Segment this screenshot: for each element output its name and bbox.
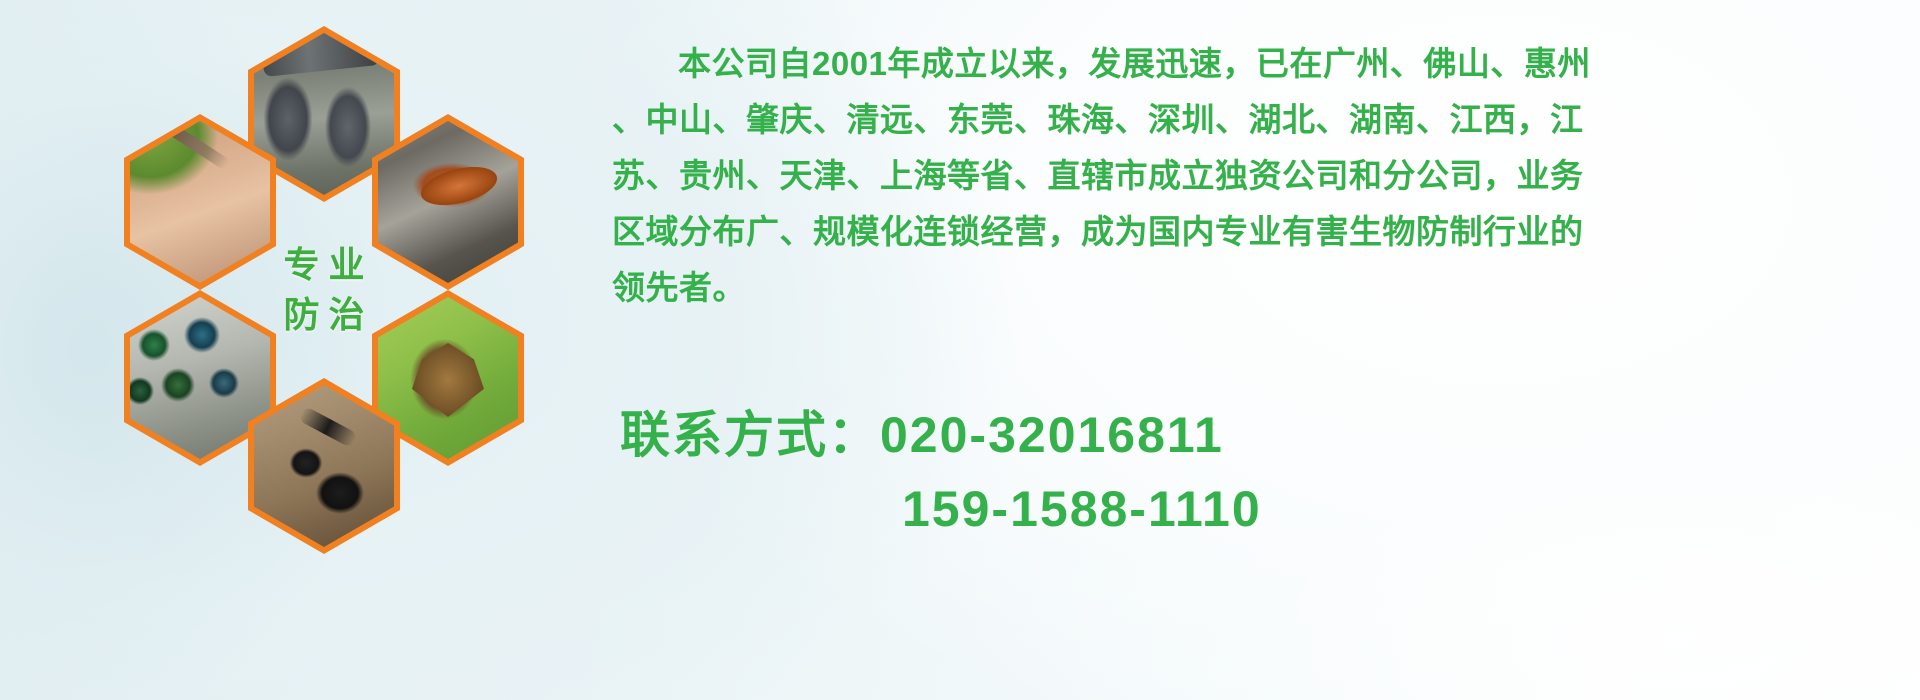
banner-root: 专业 防治 本公司自2001年成立以来，发展迅速，已在广州、佛山、惠州 、中山、… [0,0,1920,700]
intro-line-5: 领先者。 [612,260,1912,316]
intro-line-2: 、中山、肇庆、清远、东莞、珠海、深圳、湖北、湖南、江西，江 [612,92,1912,148]
contact-primary-phone[interactable]: 联系方式：020-32016811 [620,398,1820,472]
ant-photo [254,385,394,547]
contact-block: 联系方式：020-32016811 159-1588-1110 [620,398,1820,546]
badge-line-2: 防治 [274,297,373,333]
hex-tile-ant-clip [254,385,394,547]
hex-photo-cluster: 专业 防治 [88,8,588,568]
intro-line-3: 苏、贵州、天津、上海等省、直辖市成立独资公司和分公司，业务 [612,148,1912,204]
hex-center-badge: 专业 防治 [248,202,400,378]
contact-secondary-phone[interactable]: 159-1588-1110 [620,472,1820,546]
company-intro-text: 本公司自2001年成立以来，发展迅速，已在广州、佛山、惠州 、中山、肇庆、清远、… [612,36,1912,316]
badge-line-1: 专业 [274,247,373,283]
intro-line-4: 区域分布广、规模化连锁经营，成为国内专业有害生物防制行业的 [612,204,1912,260]
intro-line-1: 本公司自2001年成立以来，发展迅速，已在广州、佛山、惠州 [612,36,1912,92]
